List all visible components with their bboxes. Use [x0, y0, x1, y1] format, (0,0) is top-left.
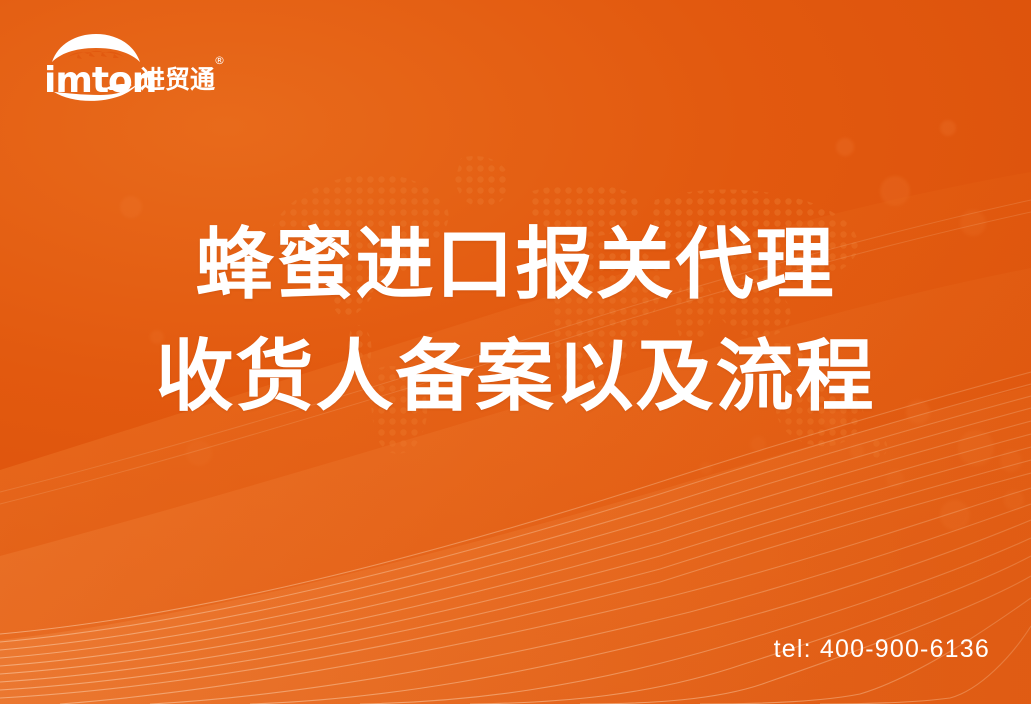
headline-line-1: 蜂蜜进口报关代理 — [0, 226, 1031, 304]
promo-banner: imton 进贸通 ® 蜂蜜进口报关代理 收货人备案以及流程 tel: 400-… — [0, 0, 1031, 704]
registered-trademark-icon: ® — [214, 54, 225, 67]
contact-phone[interactable]: tel: 400-900-6136 — [774, 635, 990, 664]
brand-logo[interactable]: imton 进贸通 ® — [44, 32, 224, 104]
logo-chinese-name: 进贸通 — [140, 65, 215, 94]
headline-line-2: 收货人备案以及流程 — [0, 338, 1031, 416]
page-title: 蜂蜜进口报关代理 收货人备案以及流程 — [0, 226, 1031, 416]
